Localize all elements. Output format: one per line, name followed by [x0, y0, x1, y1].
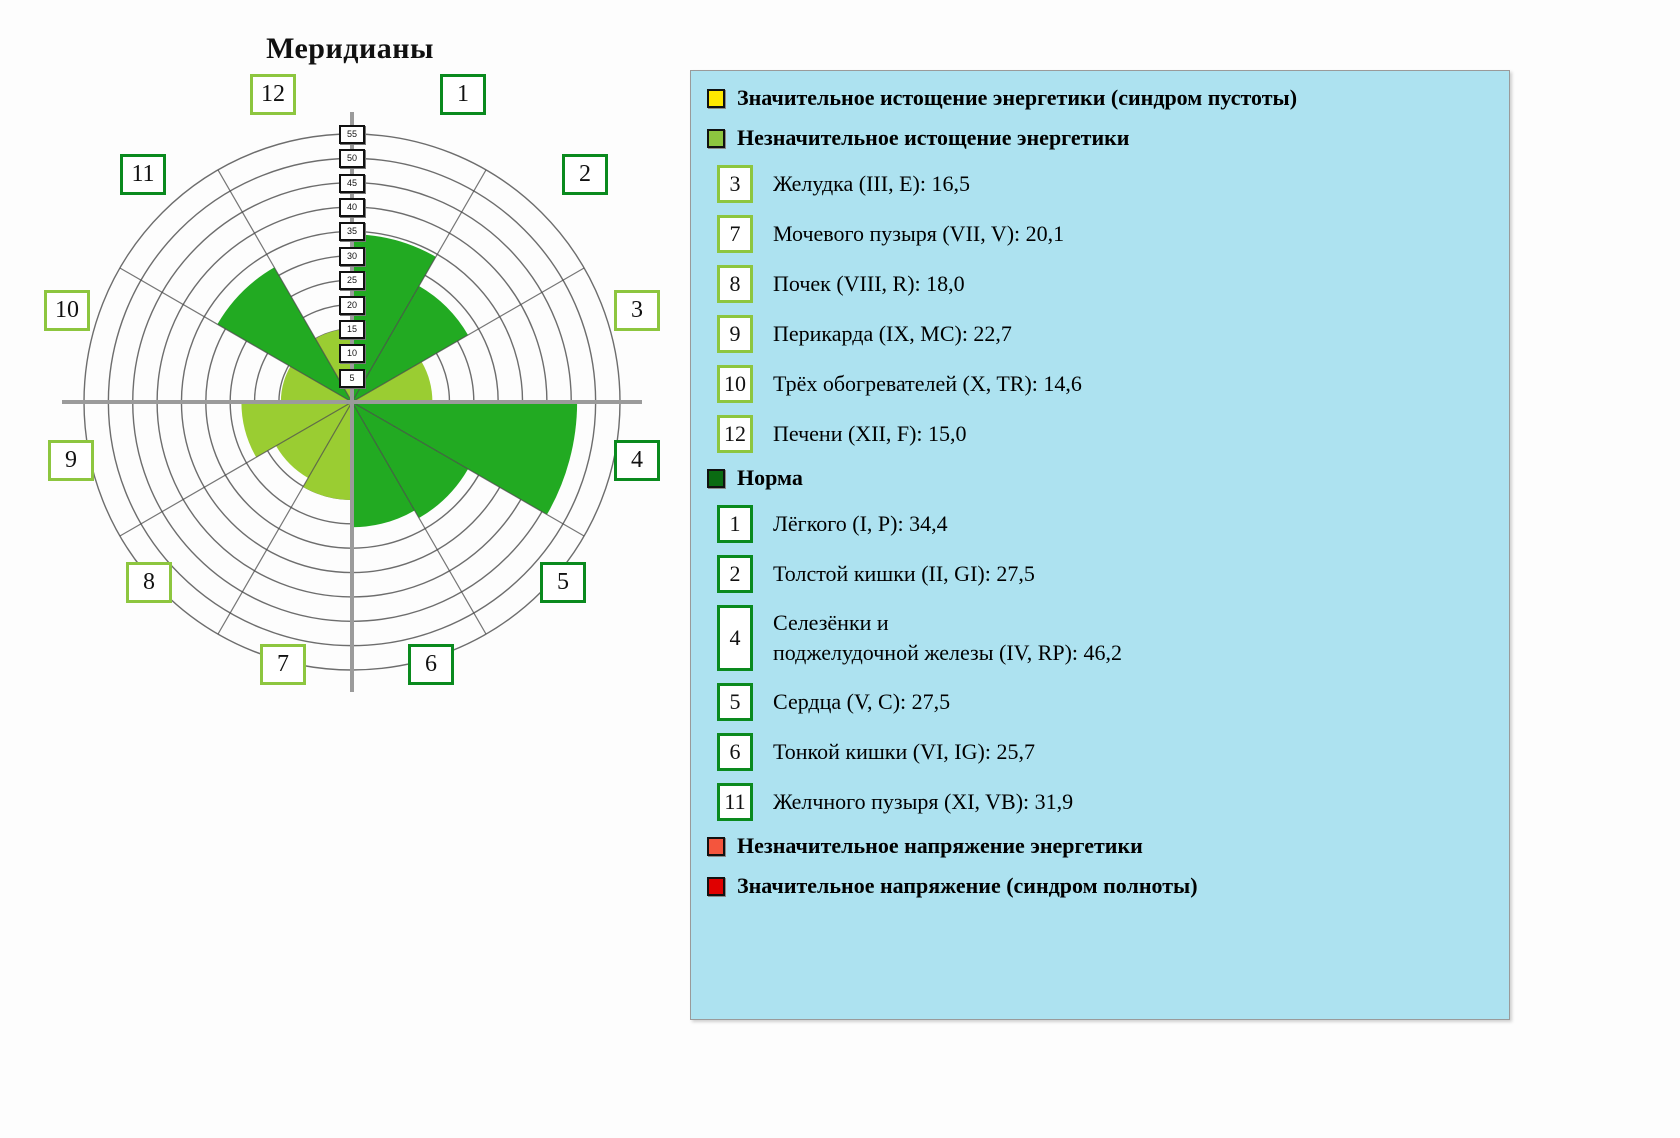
- axis-badge-3[interactable]: 3: [614, 290, 660, 331]
- chart-sectors: [217, 234, 577, 527]
- legend-item-label: Толстой кишки (II, GI): 27,5: [773, 559, 1035, 589]
- legend-item-label: Перикарда (IX, MC): 22,7: [773, 319, 1012, 349]
- legend-item[interactable]: 6Тонкой кишки (VI, IG): 25,7: [707, 733, 1499, 771]
- radial-tick-chip: 40: [339, 198, 365, 217]
- legend-section-title: Норма: [737, 465, 803, 491]
- legend-swatch-icon: [707, 129, 725, 148]
- legend-section-title: Значительное истощение энергетики (синдр…: [737, 85, 1297, 111]
- legend-item-badge: 1: [717, 505, 753, 543]
- radial-tick-chip: 55: [339, 125, 365, 144]
- radial-tick-chip: 50: [339, 149, 365, 168]
- axis-badge-12[interactable]: 12: [250, 74, 296, 115]
- legend-item[interactable]: 9Перикарда (IX, MC): 22,7: [707, 315, 1499, 353]
- legend-item-label: Желчного пузыря (XI, VB): 31,9: [773, 787, 1073, 817]
- axis-badge-4[interactable]: 4: [614, 440, 660, 481]
- legend-item[interactable]: 4Селезёнки и поджелудочной железы (IV, R…: [707, 605, 1499, 671]
- legend-section-header: Значительное напряжение (синдром полноты…: [707, 873, 1499, 899]
- legend-item-badge: 7: [717, 215, 753, 253]
- legend-item-badge: 4: [717, 605, 753, 671]
- legend-item-label: Селезёнки и поджелудочной железы (IV, RP…: [773, 608, 1122, 668]
- axis-badge-2[interactable]: 2: [562, 154, 608, 195]
- legend-item[interactable]: 2Толстой кишки (II, GI): 27,5: [707, 555, 1499, 593]
- grid-spoke: [218, 170, 352, 402]
- legend-item-label: Лёгкого (I, P): 34,4: [773, 509, 948, 539]
- page-root: Меридианы 555045403530252015105123456789…: [0, 0, 1680, 1138]
- polar-rose-chart: 555045403530252015105123456789101112: [42, 92, 662, 712]
- radial-tick-chip: 30: [339, 247, 365, 266]
- legend-item[interactable]: 10Трёх обогревателей (X, TR): 14,6: [707, 365, 1499, 403]
- grid-spoke: [120, 268, 352, 402]
- legend-item-badge: 11: [717, 783, 753, 821]
- radial-tick-chip: 45: [339, 174, 365, 193]
- legend-item-label: Трёх обогревателей (X, TR): 14,6: [773, 369, 1082, 399]
- chart-panel: Меридианы 555045403530252015105123456789…: [0, 0, 700, 1138]
- legend-item[interactable]: 7Мочевого пузыря (VII, V): 20,1: [707, 215, 1499, 253]
- legend-item[interactable]: 11Желчного пузыря (XI, VB): 31,9: [707, 783, 1499, 821]
- legend-item-label: Желудка (III, E): 16,5: [773, 169, 970, 199]
- legend-item[interactable]: 3Желудка (III, E): 16,5: [707, 165, 1499, 203]
- legend-item-badge: 5: [717, 683, 753, 721]
- legend-item-badge: 9: [717, 315, 753, 353]
- legend-item[interactable]: 5Сердца (V, C): 27,5: [707, 683, 1499, 721]
- legend-item-badge: 10: [717, 365, 753, 403]
- legend-section-header: Незначительное истощение энергетики: [707, 125, 1499, 151]
- legend-item-badge: 8: [717, 265, 753, 303]
- legend-item-badge: 12: [717, 415, 753, 453]
- legend-section-header: Значительное истощение энергетики (синдр…: [707, 85, 1499, 111]
- axis-badge-9[interactable]: 9: [48, 440, 94, 481]
- radial-tick-chip: 25: [339, 271, 365, 290]
- legend-swatch-icon: [707, 837, 725, 856]
- legend-panel: Значительное истощение энергетики (синдр…: [690, 70, 1510, 1020]
- legend-section-title: Незначительное напряжение энергетики: [737, 833, 1143, 859]
- radial-tick-chip: 15: [339, 320, 365, 339]
- legend-item-badge: 2: [717, 555, 753, 593]
- legend-section-header: Незначительное напряжение энергетики: [707, 833, 1499, 859]
- legend-section-title: Значительное напряжение (синдром полноты…: [737, 873, 1198, 899]
- legend-item[interactable]: 8Почек (VIII, R): 18,0: [707, 265, 1499, 303]
- axis-badge-11[interactable]: 11: [120, 154, 166, 195]
- legend-item[interactable]: 12Печени (XII, F): 15,0: [707, 415, 1499, 453]
- axis-badge-7[interactable]: 7: [260, 644, 306, 685]
- legend-item-label: Сердца (V, C): 27,5: [773, 687, 950, 717]
- axis-badge-6[interactable]: 6: [408, 644, 454, 685]
- legend-item-label: Тонкой кишки (VI, IG): 25,7: [773, 737, 1035, 767]
- legend-swatch-icon: [707, 877, 725, 896]
- axis-badge-1[interactable]: 1: [440, 74, 486, 115]
- legend-item-label: Печени (XII, F): 15,0: [773, 419, 967, 449]
- legend-item-label: Почек (VIII, R): 18,0: [773, 269, 965, 299]
- axis-badge-8[interactable]: 8: [126, 562, 172, 603]
- axis-badge-10[interactable]: 10: [44, 290, 90, 331]
- legend-item-badge: 6: [717, 733, 753, 771]
- legend-swatch-icon: [707, 89, 725, 108]
- legend-section-header: Норма: [707, 465, 1499, 491]
- radial-tick-chip: 5: [339, 369, 365, 388]
- radial-tick-chip: 10: [339, 344, 365, 363]
- page-title: Меридианы: [150, 32, 550, 66]
- legend-item-badge: 3: [717, 165, 753, 203]
- radial-tick-chip: 20: [339, 296, 365, 315]
- radial-tick-chip: 35: [339, 222, 365, 241]
- legend-section-title: Незначительное истощение энергетики: [737, 125, 1129, 151]
- legend-item-label: Мочевого пузыря (VII, V): 20,1: [773, 219, 1064, 249]
- axis-badge-5[interactable]: 5: [540, 562, 586, 603]
- legend-swatch-icon: [707, 469, 725, 488]
- legend-item[interactable]: 1Лёгкого (I, P): 34,4: [707, 505, 1499, 543]
